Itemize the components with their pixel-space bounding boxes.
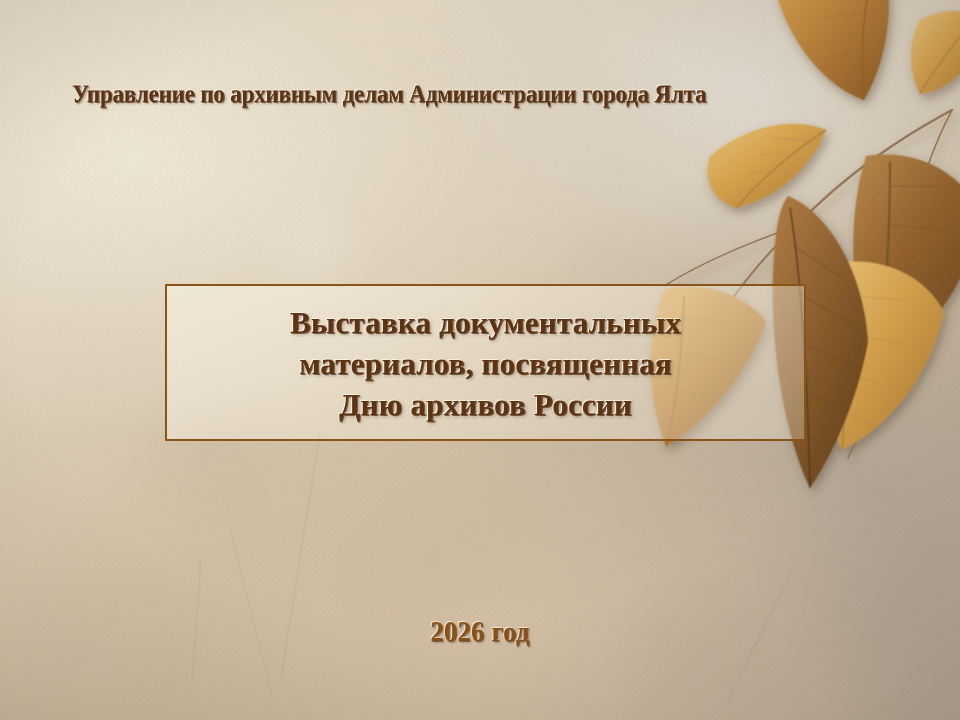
title-line-2: материалов, посвященная	[299, 343, 672, 384]
year-label: 2026 год	[29, 617, 931, 649]
title-frame: Выставка документальных материалов, посв…	[165, 284, 806, 441]
title-line-1: Выставка документальных	[290, 302, 681, 343]
presentation-slide: Управление по архивным делам Администрац…	[0, 0, 960, 720]
organization-heading: Управление по архивным делам Администрац…	[72, 82, 780, 108]
title-line-3: Дню архивов России	[339, 384, 632, 425]
